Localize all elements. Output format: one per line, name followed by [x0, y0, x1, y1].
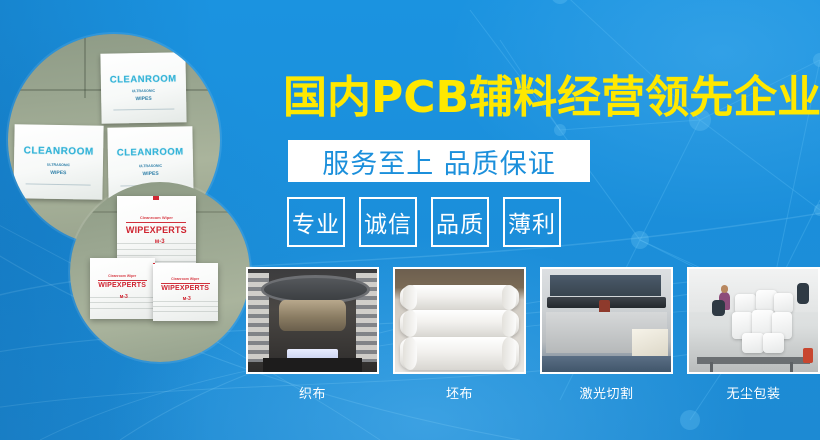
process-thumbnail-greige-fabric[interactable]: 坯布 [393, 267, 526, 402]
feature-tag-integrity[interactable]: 诚信 [359, 197, 417, 247]
process-thumbnail-laser-cutting[interactable]: 激光切割 [540, 267, 673, 402]
feature-tag-low-margin[interactable]: 薄利 [503, 197, 561, 247]
cleanroom-packing-photo[interactable] [687, 267, 820, 374]
feature-tag-list: 专业 诚信 品质 薄利 [287, 197, 561, 247]
process-thumbnail-cleanroom-packing[interactable]: 无尘包装 [687, 267, 820, 402]
thumbnail-caption: 无尘包装 [687, 383, 820, 402]
process-thumbnail-weaving[interactable]: 织布 [246, 267, 379, 402]
thumbnail-caption: 激光切割 [540, 383, 673, 402]
subtitle-text: 服务至上 品质保证 [322, 142, 556, 181]
feature-tag-quality[interactable]: 品质 [431, 197, 489, 247]
feature-tag-professional[interactable]: 专业 [287, 197, 345, 247]
wipexperts-bales-photo: Cleanroom Wiper WIPEXPERTS м-3 Cleanroom… [70, 182, 250, 362]
laser-cutting-machine-photo[interactable] [540, 267, 673, 374]
thumbnail-caption: 织布 [246, 383, 379, 402]
banner-headline: 国内PCB辅料经营领先企业 [283, 72, 820, 124]
fabric-rolls-photo[interactable] [393, 267, 526, 374]
knitting-machine-photo[interactable] [246, 267, 379, 374]
process-thumbnail-list: 织布 坯布 [246, 267, 820, 402]
subtitle-bar: 服务至上 品质保证 [288, 140, 590, 182]
thumbnail-caption: 坯布 [393, 383, 526, 402]
promo-banner: CLEANROOM ULTRASONIC WIPES CLEANROOM ULT… [0, 0, 820, 440]
product-photo-wipexperts-bales: Cleanroom Wiper WIPEXPERTS м-3 Cleanroom… [70, 182, 250, 362]
